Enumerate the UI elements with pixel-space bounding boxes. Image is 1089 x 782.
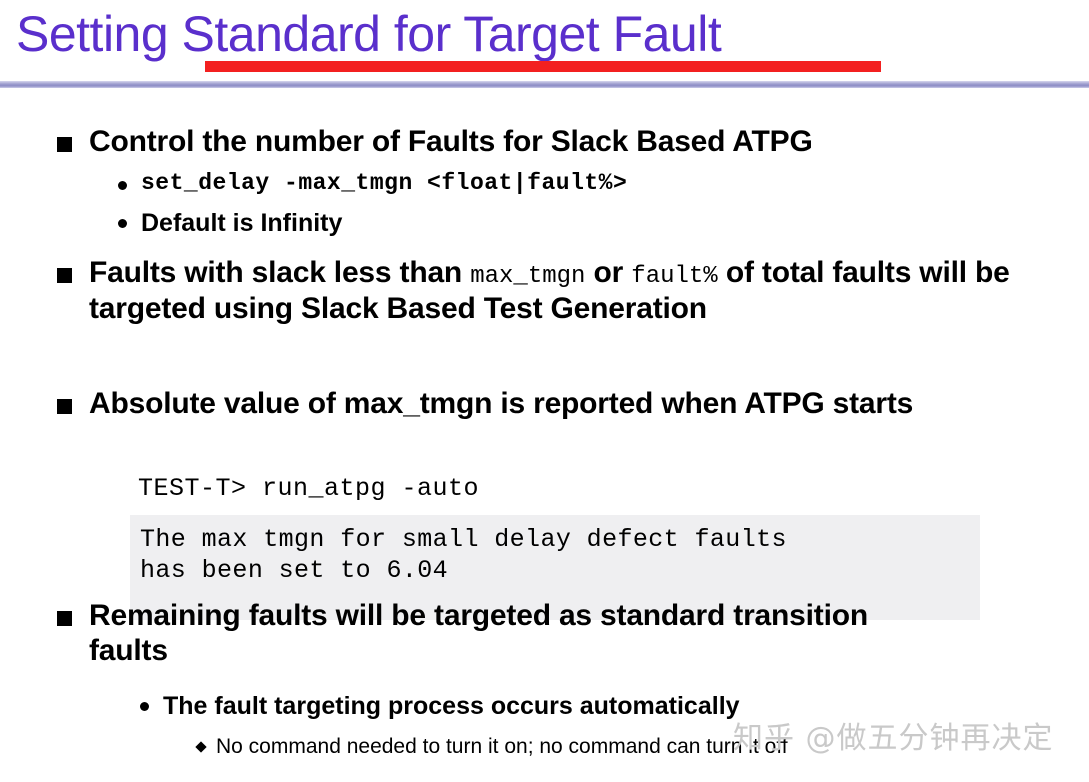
bullet-control-number-of-faults: Control the number of Faults for Slack B… <box>57 124 1027 159</box>
bullet-faults-with-slack: Faults with slack less than max_tmgn or … <box>57 255 1017 327</box>
bullet-absolute-value-reported: Absolute value of max_tmgn is reported w… <box>57 386 937 421</box>
sub-bullet-fault-targeting-automatic: The fault targeting process occurs autom… <box>140 691 1000 721</box>
bullet-text: Remaining faults will be targeted as sta… <box>89 598 937 669</box>
command-text: set_delay -max_tmgn <float|fault%> <box>141 170 627 198</box>
bullet-remaining-faults: Remaining faults will be targeted as sta… <box>57 598 937 669</box>
square-bullet-icon <box>57 137 72 152</box>
inline-code-fault-percent: fault% <box>631 263 717 290</box>
round-bullet-icon <box>118 181 127 190</box>
square-bullet-icon <box>57 399 72 414</box>
header-divider-rule <box>0 81 1089 88</box>
bullet-text: Faults with slack less than max_tmgn or … <box>89 255 1017 327</box>
bullet-text: Absolute value of max_tmgn is reported w… <box>89 386 913 421</box>
sub-sub-bullet-text: No command needed to turn it on; no comm… <box>216 734 788 759</box>
slide-body: Control the number of Faults for Slack B… <box>0 90 1089 782</box>
sub-sub-bullet-no-command-needed: No command needed to turn it on; no comm… <box>197 734 1057 759</box>
round-bullet-icon <box>140 702 149 711</box>
bullet-text: Control the number of Faults for Slack B… <box>89 124 813 159</box>
bullet-text-part2: or <box>585 256 631 289</box>
sub-bullet-set-delay-command: set_delay -max_tmgn <float|fault%> <box>118 170 978 198</box>
bullet-text-part1: Faults with slack less than <box>89 256 470 289</box>
sub-bullet-default-is-infinity: Default is Infinity <box>118 208 978 238</box>
sub-bullet-text: Default is Infinity <box>141 208 342 238</box>
title-underline-bar <box>205 61 881 72</box>
square-bullet-icon <box>57 268 72 283</box>
diamond-bullet-icon <box>195 741 206 752</box>
round-bullet-icon <box>118 219 127 228</box>
inline-code-max-tmgn: max_tmgn <box>470 263 585 290</box>
square-bullet-icon <box>57 611 72 626</box>
terminal-transcript: TEST-T> run_atpg -auto The max tmgn for … <box>138 473 1018 504</box>
slide-header: Setting Standard for Target Fault <box>0 0 1089 90</box>
terminal-prompt-line: TEST-T> run_atpg -auto <box>138 473 1018 504</box>
sub-bullet-text: The fault targeting process occurs autom… <box>163 691 740 721</box>
page-title: Setting Standard for Target Fault <box>16 6 721 64</box>
